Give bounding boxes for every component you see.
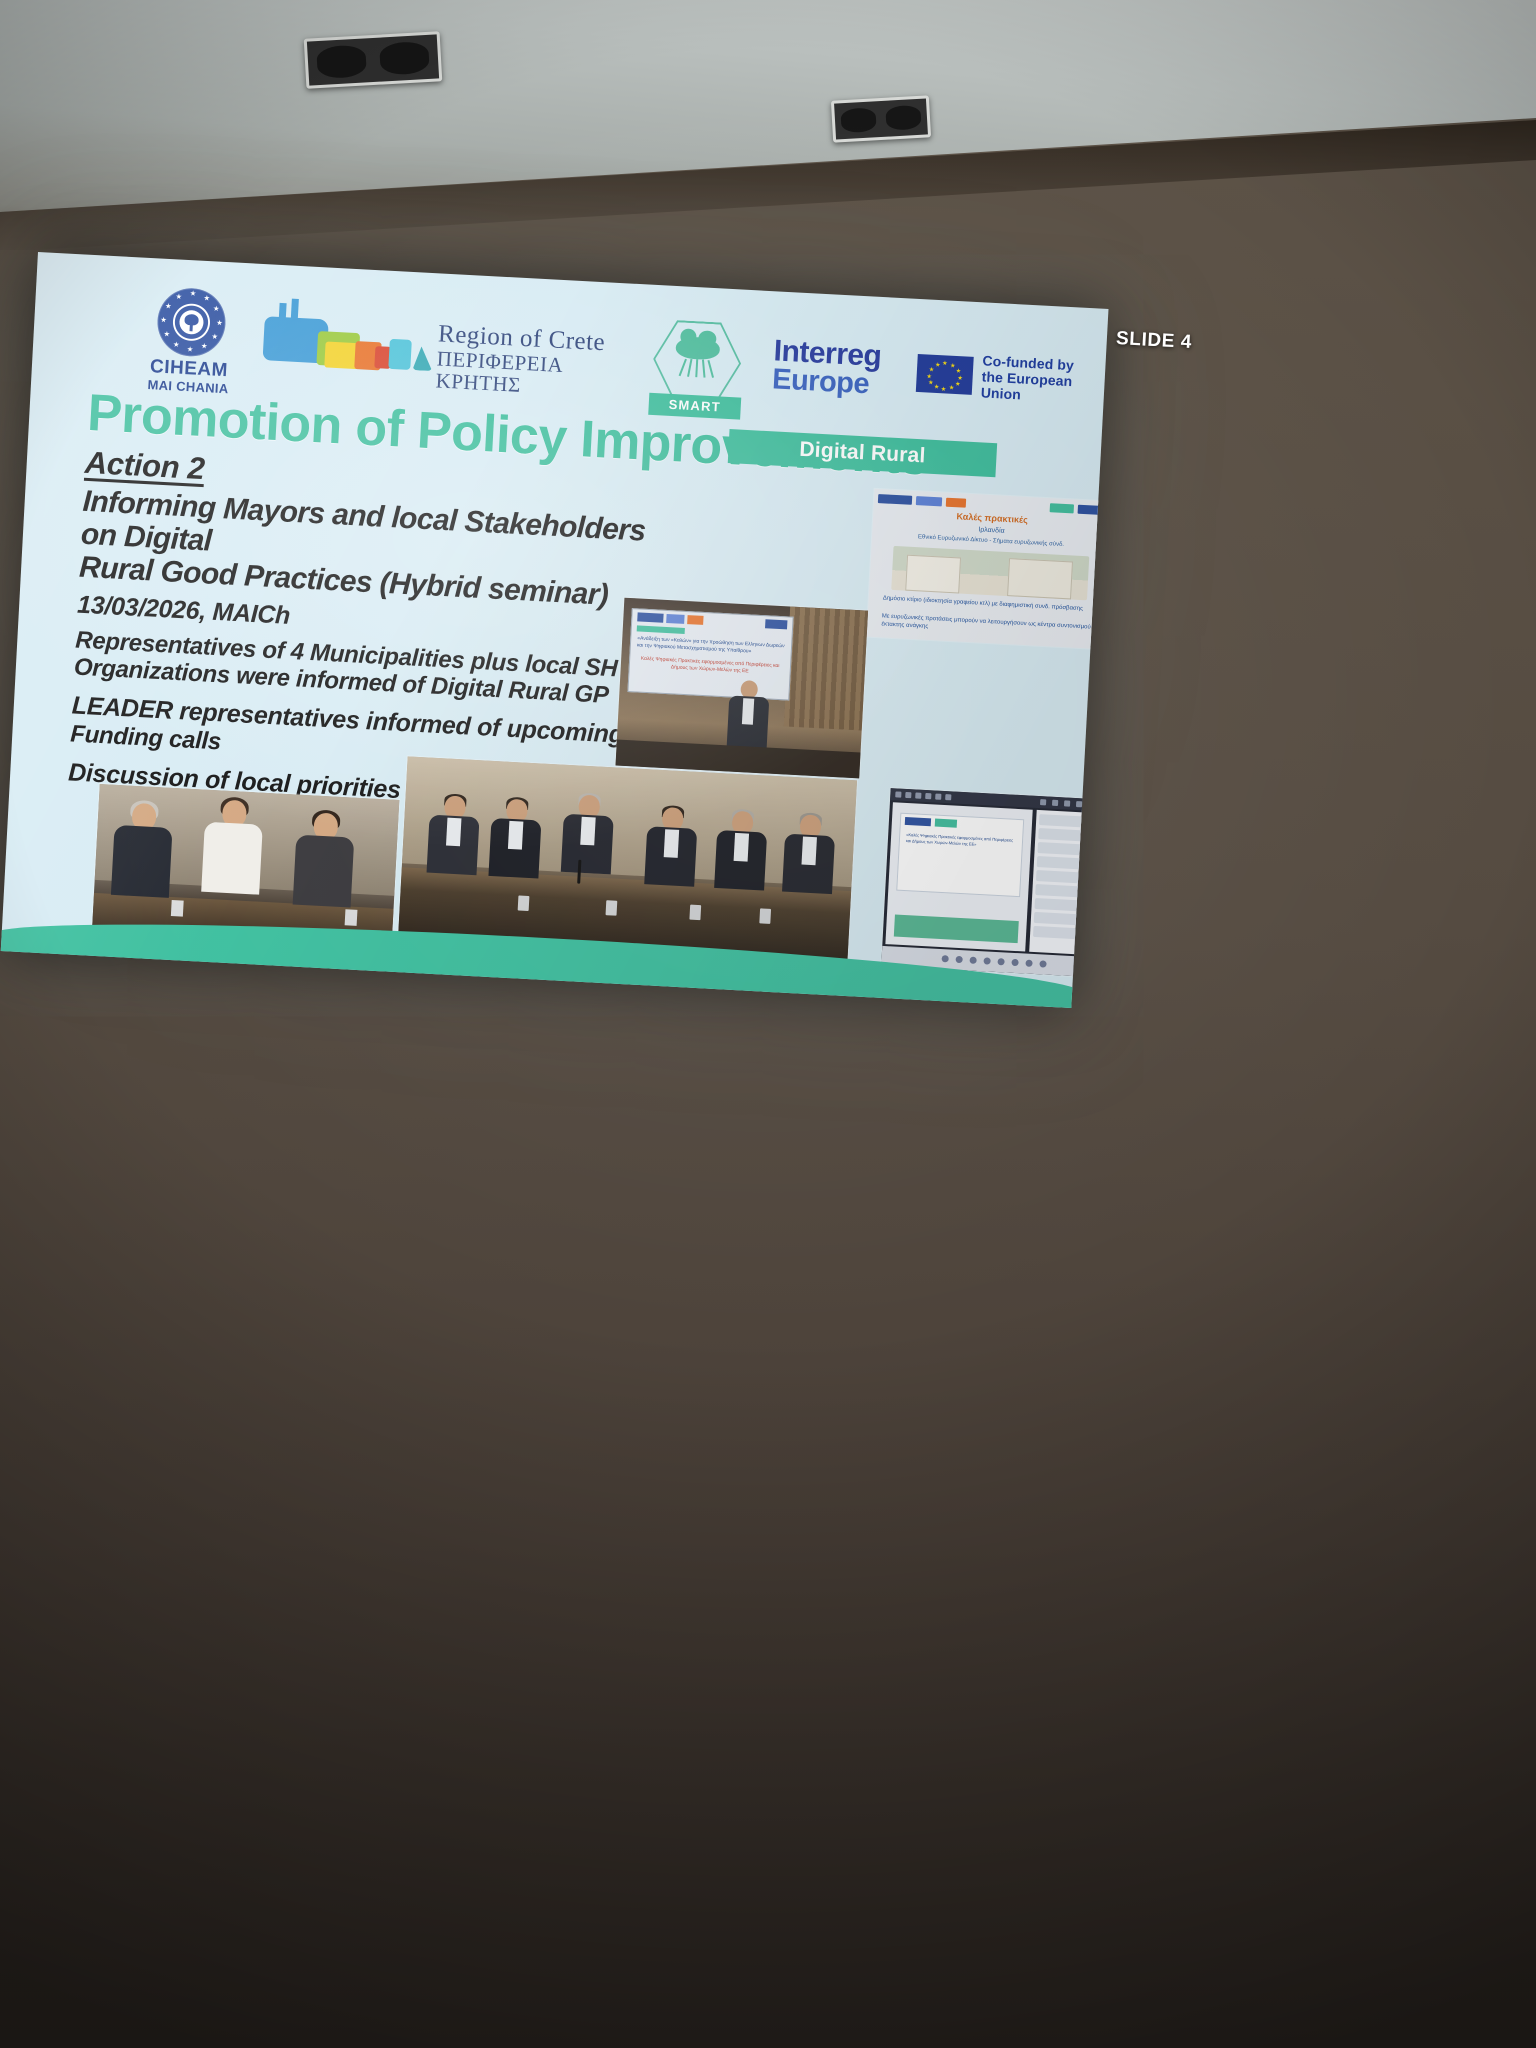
p5-slide-text: «Καλές Ψηφιακές Πρακτικές εφαρμοσμένες α… [906, 832, 1016, 849]
panel-person-5 [711, 810, 771, 891]
eu-funding-logo: Co-funded by the European Union [916, 349, 1108, 407]
p2-text-2: Καλές Ψηφιακές Πρακτικές εφαρμοσμένες απ… [636, 655, 784, 676]
recessed-spotlight-2-icon [831, 95, 931, 142]
photo-good-practices-slide: Καλές πρακτικές Ιρλανδία Εθνικό Ευρυζωνι… [867, 489, 1109, 649]
p2-text-1: «Ανάδειξη των «Καλών» για την προώθηση τ… [637, 635, 785, 656]
audience-person-1 [108, 802, 177, 897]
ciheam-emblem-icon [156, 287, 228, 359]
room-background: CIHEAM MAI CHANIA Region of Crete ΠΕΡΙΦΕ… [0, 0, 1536, 2048]
panel-person-1 [424, 794, 484, 875]
slide-body: Action 2 Informing Mayors and local Stak… [68, 445, 685, 819]
crete-map-logo-icon [262, 310, 443, 381]
p5-shared-screen: «Καλές Ψηφιακές Πρακτικές εφαρμοσμένες α… [885, 802, 1032, 951]
panel-person-6 [779, 813, 839, 894]
eu-flag-icon [916, 354, 974, 395]
p5-participant-list [1029, 810, 1092, 955]
recessed-spotlight-1-icon [304, 31, 443, 89]
slide-number-label: SLIDE 4 [1115, 328, 1192, 354]
eu-line2: the European Union [980, 368, 1107, 407]
projection-screen: CIHEAM MAI CHANIA Region of Crete ΠΕΡΙΦΕ… [0, 252, 1108, 1020]
interreg-europe-logo: Interreg Europe [772, 337, 915, 400]
photo-seminar-presenter: «Ανάδειξη των «Καλών» για την προώθηση τ… [615, 598, 868, 779]
slide-surface: CIHEAM MAI CHANIA Region of Crete ΠΕΡΙΦΕ… [1, 252, 1109, 1008]
p1-illustration [891, 546, 1089, 600]
smart-logo: SMART [646, 319, 747, 420]
p2-curtain [784, 607, 868, 731]
p1-bullet-2: Με ευρυζωνικές προτάσεις μπορούν να λειτ… [881, 613, 1092, 639]
region-of-crete-gr: ΠΕΡΙΦΕΡΕΙΑ ΚΡΗΤΗΣ [435, 347, 637, 402]
audience-person-3 [290, 811, 359, 906]
region-of-crete-logo: Region of Crete ΠΕΡΙΦΕΡΕΙΑ ΚΡΗΤΗΣ [435, 321, 638, 401]
panel-person-2 [485, 798, 545, 879]
photo-online-meeting: «Καλές Ψηφιακές Πρακτικές εφαρμοσμένες α… [881, 788, 1096, 977]
ciheam-logo: CIHEAM MAI CHANIA [123, 285, 258, 398]
audience-person-2 [198, 798, 267, 901]
panel-person-4 [641, 806, 701, 887]
panel-person-3 [557, 793, 617, 882]
